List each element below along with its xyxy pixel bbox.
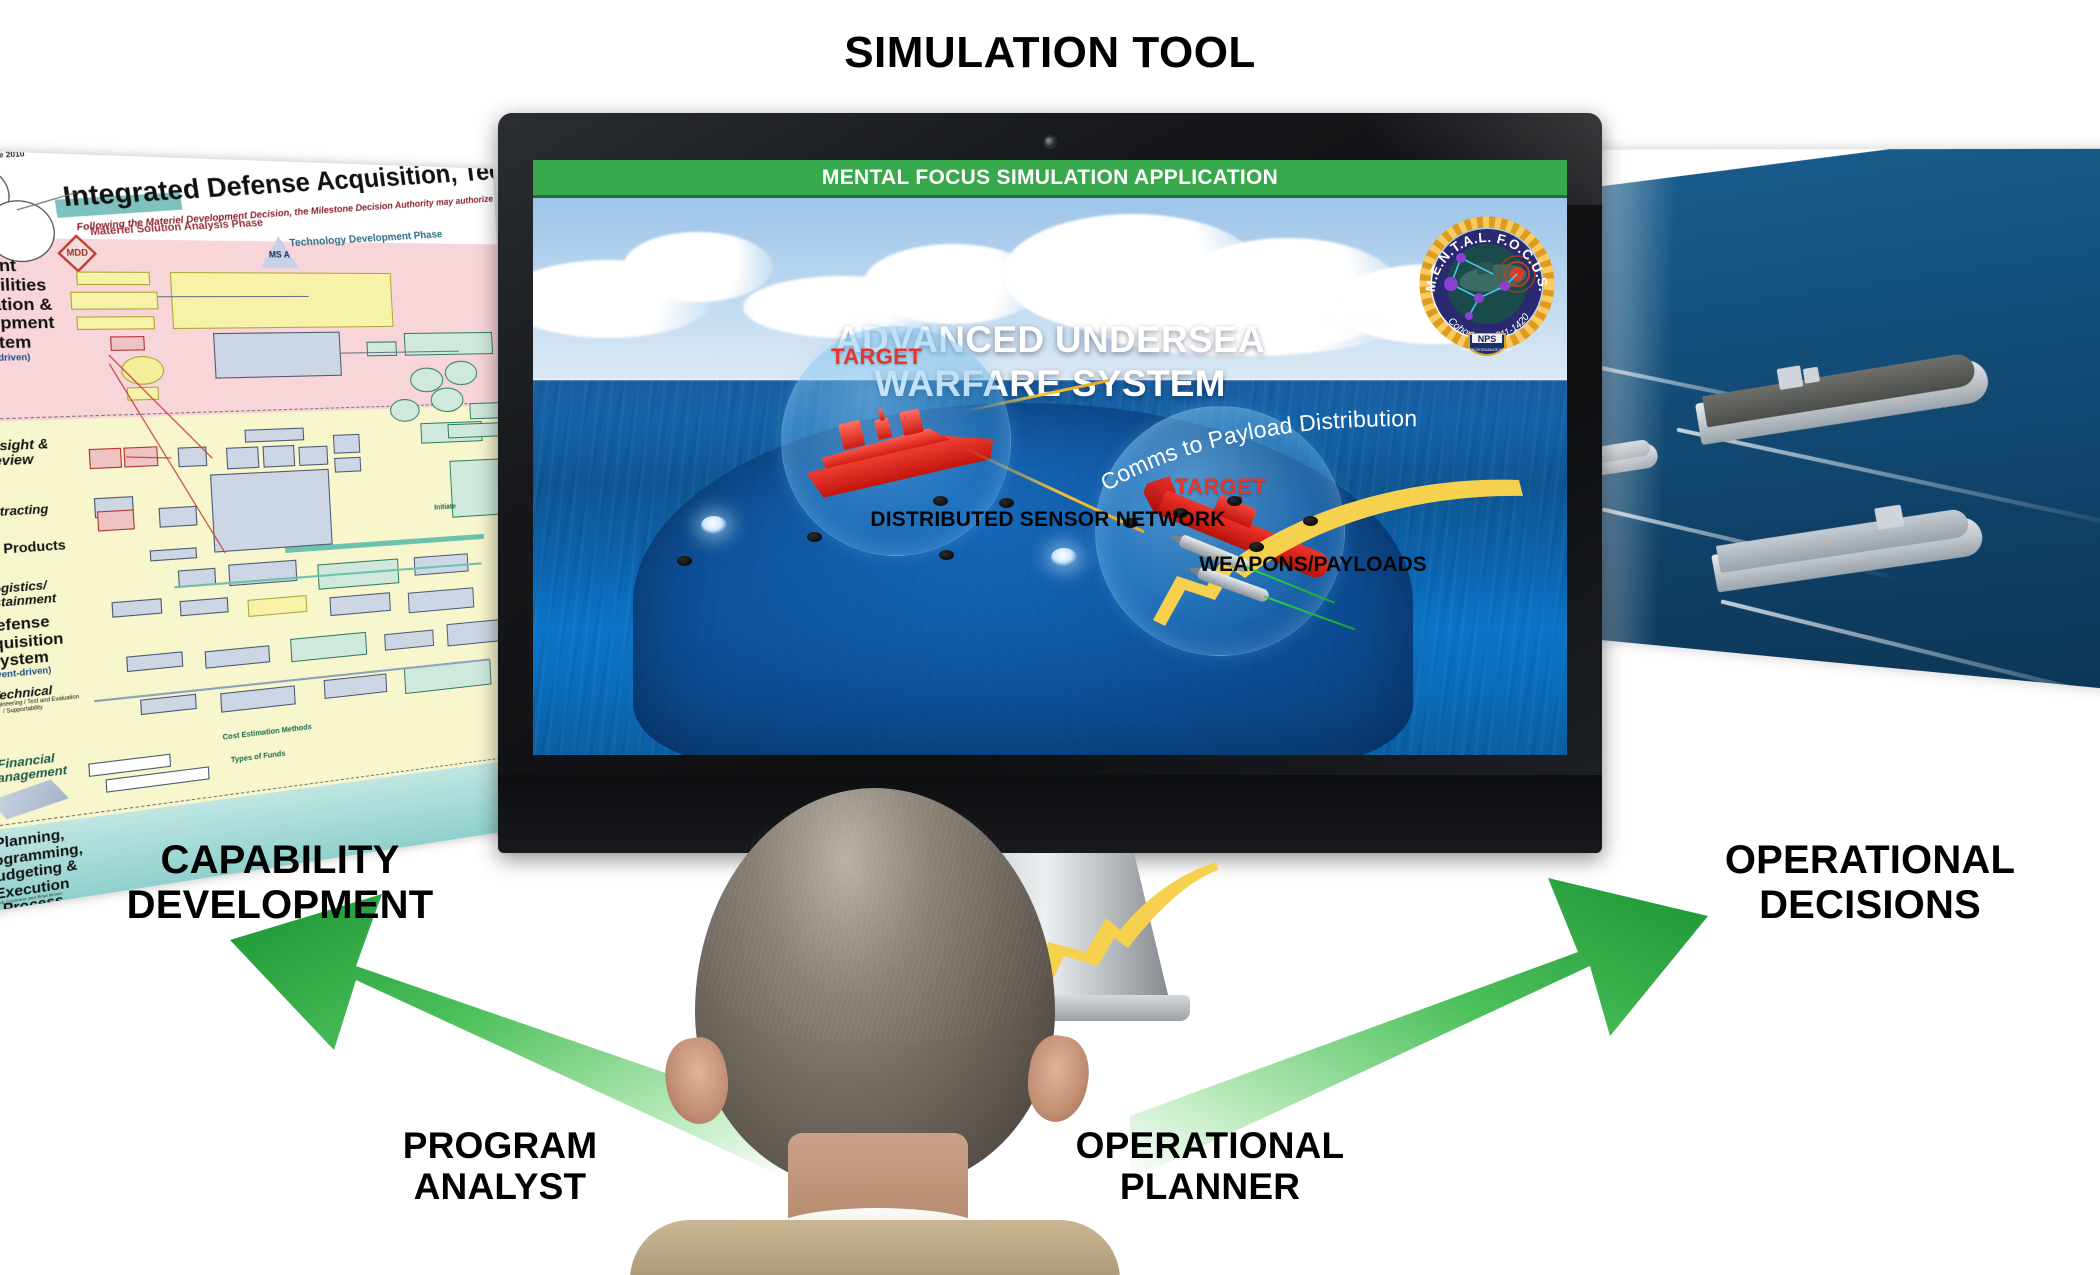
chart-node [366, 341, 397, 356]
mental-focus-seal: M.E.N.T.A.L. F.O.C.U.S. Cohort 311-1420 … [1417, 212, 1539, 334]
label-operational-planner-line2: PLANNER [1000, 1166, 1420, 1207]
label-operational-planner-line1: OPERATIONAL [1000, 1125, 1420, 1166]
sensor-node [701, 516, 727, 534]
chart-node [89, 448, 122, 469]
label-operational-decisions-line1: OPERATIONAL [1640, 838, 2100, 883]
ship-tower [899, 408, 924, 436]
chart-node [333, 434, 360, 454]
chart-node [298, 446, 328, 466]
chart-lane-oversight: Oversight & Review [0, 437, 64, 472]
fleet-carrier-3 [1707, 493, 1993, 618]
scene-title-line1: ADVANCED UNDERSEA [533, 318, 1567, 362]
ship-island [1777, 365, 1804, 390]
seal-shield-text: NPS [1478, 334, 1497, 344]
sensor-node [807, 532, 822, 542]
cloud-icon [623, 232, 773, 302]
chart-lane-jcids-label: Joint Capabilities Integration & Develop… [0, 256, 55, 353]
sensor-node [1227, 496, 1242, 506]
chart-lane-oversight-label: Oversight & Review [0, 436, 49, 470]
ship-island [1803, 367, 1820, 384]
chart-lane-jcids: Joint Capabilities Integration & Develop… [0, 257, 62, 366]
label-capability-development-line1: CAPABILITY [50, 838, 510, 883]
sensor-node [1249, 542, 1264, 552]
ship-island [1874, 505, 1904, 530]
ship-wake [1720, 599, 2100, 692]
sensor-node [939, 550, 954, 560]
sensor-node [677, 556, 692, 566]
sensor-node [1051, 548, 1077, 566]
scene-title-line2: WARFARE SYSTEM [533, 362, 1567, 406]
chart-node [244, 428, 304, 443]
chart-node [97, 509, 135, 531]
simulation-scene: ADVANCED UNDERSEA WARFARE SYSTEM [533, 198, 1567, 755]
chart-milestone-msa-label: MS A [260, 251, 298, 260]
label-operational-decisions-line2: DECISIONS [1640, 883, 2100, 928]
target-label-ship: TARGET [831, 344, 922, 370]
app-title-text: MENTAL FOCUS SIMULATION APPLICATION [822, 166, 1278, 190]
chart-node [213, 332, 342, 379]
sensor-node [933, 496, 948, 506]
person-shirt [630, 1220, 1120, 1275]
chart-node [76, 316, 155, 330]
weapons-payloads-label: WEAPONS/PAYLOADS [1163, 553, 1463, 577]
chart-milestone-mdd-label: MDD [65, 242, 90, 265]
label-operational-planner: OPERATIONAL PLANNER [1000, 1125, 1420, 1208]
acquisition-chart-poster: Version 5.4 15 June 2010 Integrated Defe… [0, 149, 527, 916]
app-titlebar: MENTAL FOCUS SIMULATION APPLICATION [533, 160, 1567, 198]
chart-node [262, 445, 295, 468]
person-hair [698, 792, 1052, 1042]
sensor-node [999, 498, 1014, 508]
fleet-carrier-1 [1692, 335, 1998, 468]
chart-lane-das-label: Defense Acquisition System [0, 612, 64, 671]
label-capability-development-line2: DEVELOPMENT [50, 883, 510, 928]
label-program-analyst-line1: PROGRAM [300, 1125, 700, 1166]
chart-node [70, 292, 158, 310]
sensor-node [1303, 516, 1318, 526]
seal-shield-subtext: NAVAL POSTGRADUATE SCHOOL [1461, 348, 1512, 352]
label-program-analyst-line2: ANALYST [300, 1166, 700, 1207]
chart-node [170, 272, 394, 329]
distributed-sensor-network-label: DISTRIBUTED SENSOR NETWORK [833, 508, 1263, 532]
label-program-analyst: PROGRAM ANALYST [300, 1125, 700, 1208]
label-operational-decisions: OPERATIONAL DECISIONS [1640, 838, 2100, 928]
monitor: MENTAL FOCUS SIMULATION APPLICATION ADVA… [498, 113, 1602, 853]
ship-tower [874, 417, 892, 440]
chart-node [334, 457, 361, 473]
chart-node [159, 506, 198, 528]
webcam-icon [1045, 137, 1055, 147]
chart-node [110, 336, 145, 351]
monitor-screen: MENTAL FOCUS SIMULATION APPLICATION ADVA… [533, 160, 1567, 755]
label-capability-development: CAPABILITY DEVELOPMENT [50, 838, 510, 928]
ship-tower [838, 420, 865, 450]
page-title: SIMULATION TOOL [0, 28, 2100, 78]
chart-node [226, 446, 259, 469]
chart-node [210, 469, 333, 553]
chart-node [76, 271, 150, 285]
